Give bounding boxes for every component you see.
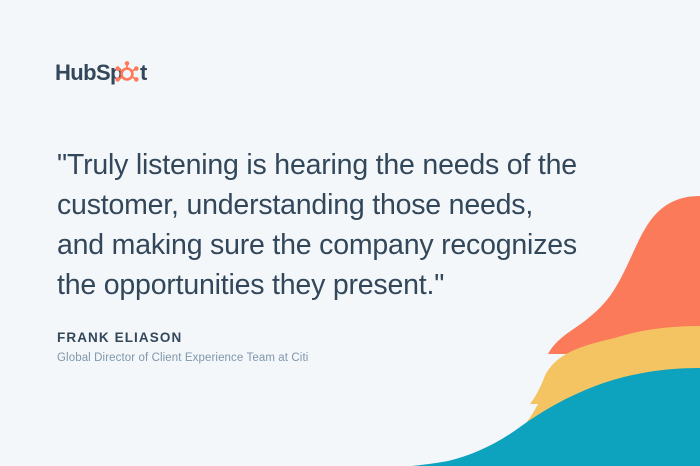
quote-line-2: customer, understanding those needs, xyxy=(57,185,617,225)
amber-wave-shape-lower xyxy=(520,326,700,430)
amber-wave-shape xyxy=(530,330,700,404)
quote-line-3: and making sure the company recognizes xyxy=(57,225,617,265)
quote-line-1: "Truly listening is hearing the needs of… xyxy=(57,145,617,185)
hubspot-logo-mark: HubSp t xyxy=(55,58,151,88)
quote-card: HubSp t "Truly listening is hearing the … xyxy=(0,0,700,466)
quote-line-4: the opportunities they present." xyxy=(57,265,617,305)
hubspot-logo: HubSp t xyxy=(55,58,151,88)
logo-wordmark-part2: t xyxy=(140,60,148,85)
quote-text: "Truly listening is hearing the needs of… xyxy=(57,145,617,305)
attribution-name: FRANK ELIASON xyxy=(57,329,308,347)
teal-wave-shape xyxy=(412,368,700,466)
quote-attribution: FRANK ELIASON Global Director of Client … xyxy=(57,329,308,367)
logo-wordmark-part1: HubSp xyxy=(55,60,123,85)
attribution-role: Global Director of Client Experience Tea… xyxy=(57,350,308,367)
